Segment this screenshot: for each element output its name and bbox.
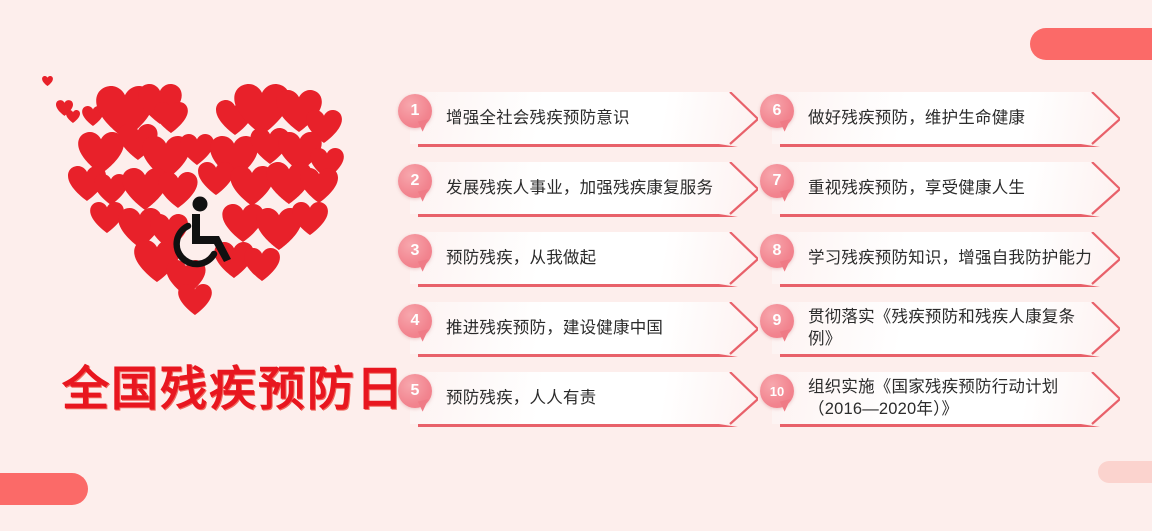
item-text: 学习残疾预防知识，增强自我防护能力 [808,232,1100,284]
item-text-line1: 发展残疾人事业，加强残疾康复服务 [446,177,738,199]
list-item[interactable]: 6 做好残疾预防，维护生命健康 [760,92,1120,144]
banner-underline [780,424,1100,427]
banner-underline [418,354,738,357]
item-number-badge: 3 [398,234,432,268]
pill-decoration-bottom-right [1098,461,1152,483]
item-number-badge: 5 [398,374,432,408]
item-number-badge: 7 [760,164,794,198]
item-text-line1: 做好残疾预防，维护生命健康 [808,107,1100,129]
item-number-badge: 8 [760,234,794,268]
item-text-line1: 学习残疾预防知识，增强自我防护能力 [808,247,1100,269]
slogan-list: 1 增强全社会残疾预防意识 2 发展残疾人事业，加强残疾康复服务 3 [398,92,1138,442]
item-text-line1: 组织实施《国家残疾预防行动计划 [808,376,1100,398]
item-text: 做好残疾预防，维护生命健康 [808,92,1100,144]
banner-underline [780,214,1100,217]
list-item[interactable]: 9 贯彻落实《残疾预防和残疾人康复条例》 [760,302,1120,354]
item-text: 重视残疾预防，享受健康人生 [808,162,1100,214]
hero-panel: 全国残疾预防日 [0,62,400,442]
item-text-line1: 贯彻落实《残疾预防和残疾人康复条例》 [808,306,1100,351]
heart-mosaic-icon [38,62,378,362]
wheelchair-icon [177,197,231,265]
item-text: 组织实施《国家残疾预防行动计划 （2016—2020年）》 [808,372,1100,424]
banner-underline [780,354,1100,357]
banner-underline [418,424,738,427]
item-text: 贯彻落实《残疾预防和残疾人康复条例》 [808,302,1100,354]
banner-underline [418,284,738,287]
list-item[interactable]: 7 重视残疾预防，享受健康人生 [760,162,1120,214]
page-title: 全国残疾预防日 [62,362,382,416]
item-number-badge: 6 [760,94,794,128]
item-text-line1: 预防残疾，人人有责 [446,387,738,409]
item-text: 推进残疾预防，建设健康中国 [446,302,738,354]
list-item[interactable]: 3 预防残疾，从我做起 [398,232,758,284]
item-number-badge: 9 [760,304,794,338]
item-text: 增强全社会残疾预防意识 [446,92,738,144]
slogan-column-right: 6 做好残疾预防，维护生命健康 7 重视残疾预防，享受健康人生 8 [760,92,1120,442]
list-item[interactable]: 10 组织实施《国家残疾预防行动计划 （2016—2020年）》 [760,372,1120,424]
banner-underline [780,284,1100,287]
item-text-line1: 预防残疾，从我做起 [446,247,738,269]
item-number-badge: 10 [760,374,794,408]
item-number-badge: 1 [398,94,432,128]
item-text-line1: 重视残疾预防，享受健康人生 [808,177,1100,199]
list-item[interactable]: 1 增强全社会残疾预防意识 [398,92,758,144]
item-text: 发展残疾人事业，加强残疾康复服务 [446,162,738,214]
item-number-badge: 2 [398,164,432,198]
item-text-line2: （2016—2020年）》 [808,398,1100,420]
item-text-line1: 增强全社会残疾预防意识 [446,107,738,129]
pill-decoration-top-right [1030,28,1152,60]
slogan-column-left: 1 增强全社会残疾预防意识 2 发展残疾人事业，加强残疾康复服务 3 [398,92,758,442]
list-item[interactable]: 8 学习残疾预防知识，增强自我防护能力 [760,232,1120,284]
item-number-badge: 4 [398,304,432,338]
banner-underline [780,144,1100,147]
list-item[interactable]: 4 推进残疾预防，建设健康中国 [398,302,758,354]
pill-decoration-bottom-left [0,473,88,505]
banner-underline [418,214,738,217]
list-item[interactable]: 5 预防残疾，人人有责 [398,372,758,424]
item-text: 预防残疾，人人有责 [446,372,738,424]
item-text: 预防残疾，从我做起 [446,232,738,284]
list-item[interactable]: 2 发展残疾人事业，加强残疾康复服务 [398,162,758,214]
item-text-line1: 推进残疾预防，建设健康中国 [446,317,738,339]
banner-underline [418,144,738,147]
